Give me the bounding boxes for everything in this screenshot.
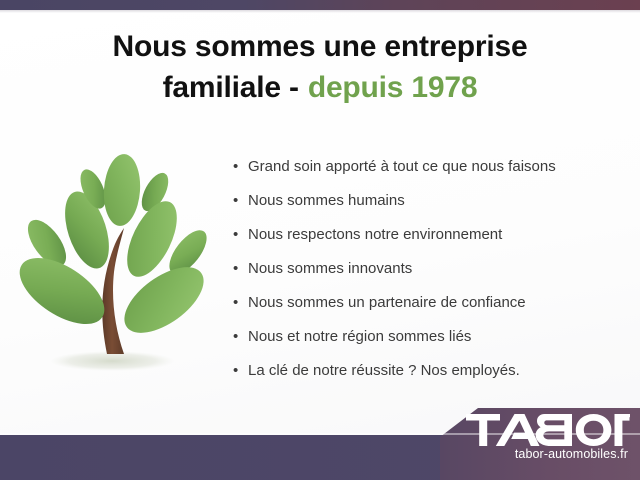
bullet-marker-icon: • (233, 150, 248, 184)
list-item-label: Nous respectons notre environnement (248, 218, 633, 252)
bullet-marker-icon: • (233, 184, 248, 218)
list-item: • Nous sommes humains (233, 184, 633, 218)
bullet-marker-icon: • (233, 286, 248, 320)
tabor-logo-glyphs (466, 414, 630, 446)
list-item: • Nous respectons notre environnement (233, 218, 633, 252)
bullet-marker-icon: • (233, 218, 248, 252)
list-item: • Nous sommes un partenaire de confiance (233, 286, 633, 320)
brand-logo[interactable]: tabor-automobiles.fr (458, 414, 630, 462)
leaf (102, 153, 143, 227)
headline-line-2-black: familiale - (163, 71, 299, 104)
list-item-label: Nous sommes innovants (248, 252, 633, 286)
headline-line-2: familiale -depuis 1978 (0, 67, 640, 108)
footer-band: tabor-automobiles.fr (0, 400, 640, 480)
tree-illustration (12, 148, 222, 390)
list-item-label: Grand soin apporté à tout ce que nous fa… (248, 150, 633, 184)
bullet-marker-icon: • (233, 252, 248, 286)
brand-url[interactable]: tabor-automobiles.fr (458, 447, 630, 462)
top-accent-bar (0, 0, 640, 10)
list-item-label: Nous sommes un partenaire de confiance (248, 286, 633, 320)
list-item: • Grand soin apporté à tout ce que nous … (233, 150, 633, 184)
list-item-label: Nous et notre région sommes liés (248, 320, 633, 354)
slide-canvas: Nous sommes une entreprise familiale -de… (0, 0, 640, 480)
tabor-wordmark-icon (458, 414, 630, 446)
top-accent-bar-shadow (0, 10, 640, 13)
list-item: • Nous sommes innovants (233, 252, 633, 286)
page-title: Nous sommes une entreprise familiale -de… (0, 26, 640, 108)
bullet-marker-icon: • (233, 354, 248, 388)
list-item-label: La clé de notre réussite ? Nos employés. (248, 354, 633, 388)
list-item-label: Nous sommes humains (248, 184, 633, 218)
headline-line-1: Nous sommes une entreprise (113, 30, 528, 63)
headline-accent-text: depuis 1978 (308, 71, 478, 104)
list-item: • Nous et notre région sommes liés (233, 320, 633, 354)
value-bullet-list: • Grand soin apporté à tout ce que nous … (233, 150, 633, 388)
list-item: • La clé de notre réussite ? Nos employé… (233, 354, 633, 388)
bullet-marker-icon: • (233, 320, 248, 354)
tree-icon (12, 148, 222, 390)
